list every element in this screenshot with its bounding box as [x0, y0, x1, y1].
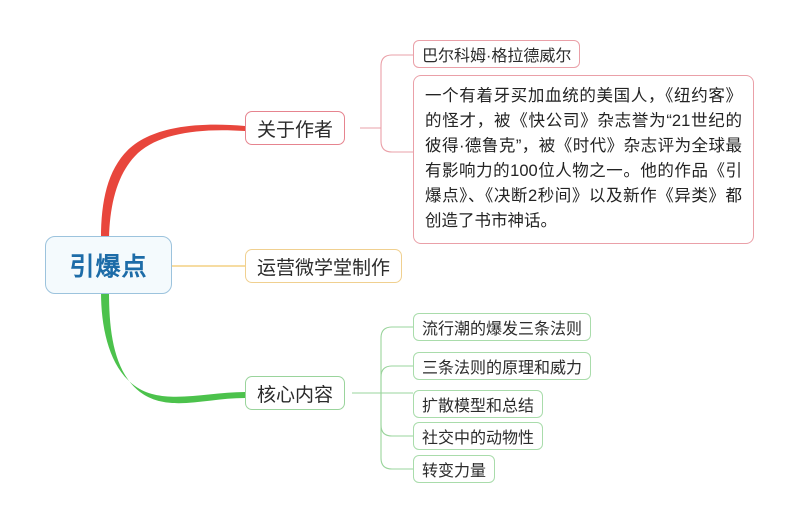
branch-node-production-credit-label: 运营微学堂制作: [257, 253, 390, 280]
leaf-node-core-4-label: 社交中的动物性: [422, 424, 534, 448]
leaf-node-core-2-label: 三条法则的原理和威力: [422, 354, 582, 378]
leaf-node-core-1[interactable]: 流行潮的爆发三条法则: [413, 313, 591, 341]
branch-line-core-content: [101, 292, 245, 403]
branch-node-about-author-label: 关于作者: [257, 115, 333, 142]
connector-group-core-content: [352, 327, 413, 469]
leaf-node-core-5[interactable]: 转变力量: [413, 455, 495, 483]
leaf-node-core-3-label: 扩散模型和总结: [422, 392, 534, 416]
connector-group-about-author: [360, 55, 413, 152]
leaf-node-core-5-label: 转变力量: [422, 457, 486, 481]
leaf-node-author-name[interactable]: 巴尔科姆·格拉德威尔: [413, 40, 580, 68]
branch-node-about-author[interactable]: 关于作者: [245, 111, 345, 145]
leaf-node-core-3[interactable]: 扩散模型和总结: [413, 390, 543, 418]
leaf-node-author-bio-text: 一个有着牙买加血统的美国人，《纽约客》的怪才，被《快公司》杂志誉为“21世纪的彼…: [425, 87, 742, 230]
mindmap-canvas: 引爆点 关于作者 运营微学堂制作 核心内容 巴尔科姆·格拉德威尔 一个有着牙买加…: [0, 0, 801, 526]
branch-line-about-author: [101, 125, 245, 238]
root-node[interactable]: 引爆点: [45, 236, 172, 294]
root-node-label: 引爆点: [69, 247, 147, 283]
branch-node-core-content-label: 核心内容: [257, 380, 333, 407]
leaf-node-core-4[interactable]: 社交中的动物性: [413, 422, 543, 450]
leaf-node-core-1-label: 流行潮的爆发三条法则: [422, 315, 582, 339]
leaf-node-core-2[interactable]: 三条法则的原理和威力: [413, 352, 591, 380]
leaf-node-author-bio[interactable]: 一个有着牙买加血统的美国人，《纽约客》的怪才，被《快公司》杂志誉为“21世纪的彼…: [413, 75, 754, 244]
branch-node-core-content[interactable]: 核心内容: [245, 376, 345, 410]
leaf-node-author-name-label: 巴尔科姆·格拉德威尔: [422, 42, 571, 66]
branch-node-production-credit[interactable]: 运营微学堂制作: [245, 249, 402, 283]
